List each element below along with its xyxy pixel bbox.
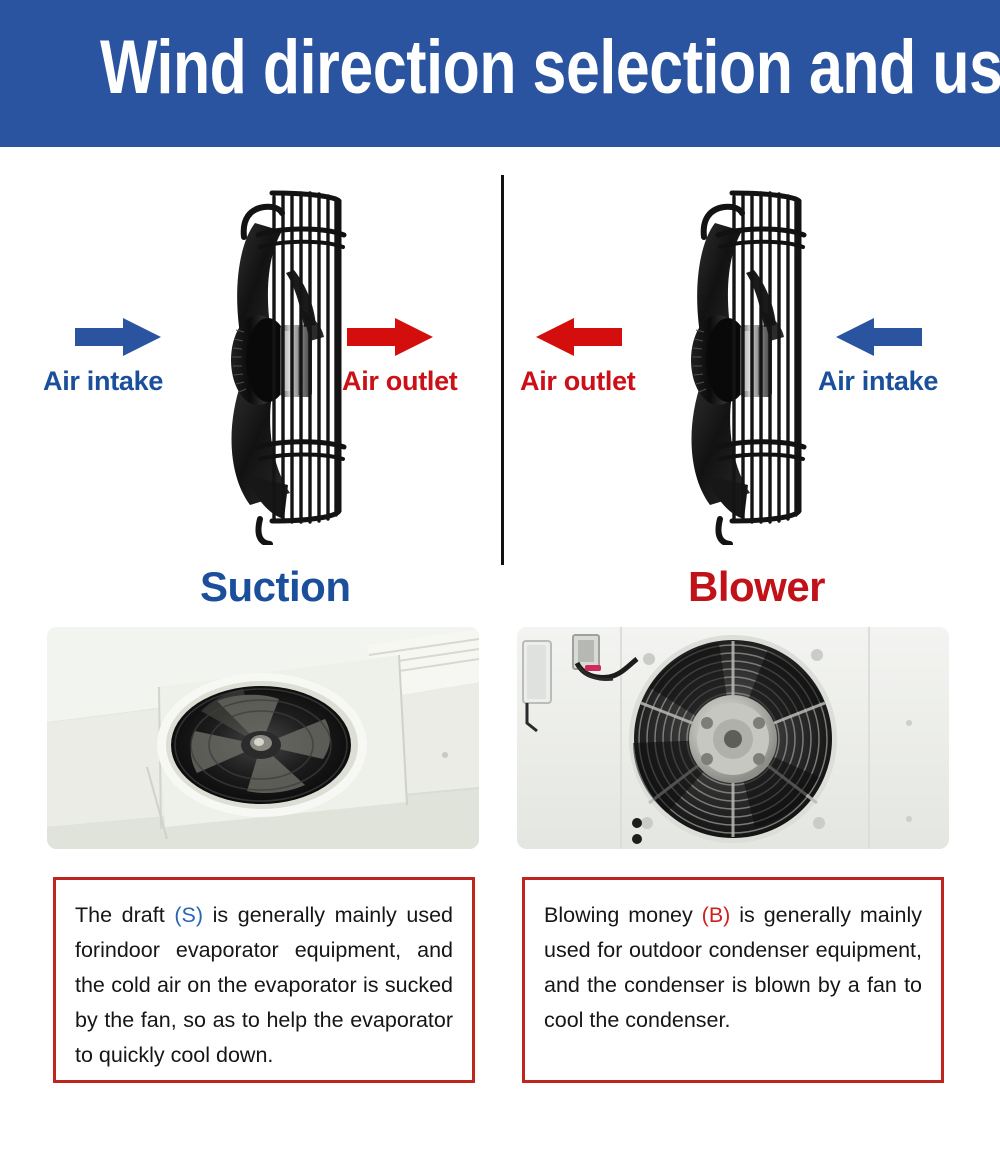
description-text-suction: The draft (S) is generally mainly used f… xyxy=(75,898,453,1073)
text-segment: Blowing money xyxy=(544,903,702,927)
fan-illustration-suction xyxy=(198,175,358,545)
arrow-left-blue-intake-right-panel xyxy=(836,317,922,357)
arrow-left-red-outlet-right-panel xyxy=(536,317,622,357)
photo-evaporator xyxy=(47,627,479,849)
panel-divider xyxy=(501,175,504,565)
arrow-right-blue-intake-left-panel xyxy=(75,317,161,357)
text-token-b: (B) xyxy=(702,903,731,927)
text-token-s: (S) xyxy=(174,903,203,927)
description-text-blower: Blowing money (B) is generally mainly us… xyxy=(544,898,922,1038)
description-card-suction: The draft (S) is generally mainly used f… xyxy=(53,877,475,1083)
label-air-intake-left: Air intake xyxy=(43,366,163,397)
mode-title-suction: Suction xyxy=(200,563,351,611)
fan-illustration-blower xyxy=(658,175,818,545)
arrow-right-red-outlet-left-panel xyxy=(347,317,433,357)
text-segment: The draft xyxy=(75,903,174,927)
label-air-intake-right: Air intake xyxy=(818,366,938,397)
page-title: Wind direction selection and use of fan xyxy=(100,22,900,114)
mode-title-blower: Blower xyxy=(688,563,825,611)
diagram-section: Air intake Air outlet Air outlet Air int… xyxy=(0,147,1000,625)
label-air-outlet-right: Air outlet xyxy=(520,366,636,397)
description-card-blower: Blowing money (B) is generally mainly us… xyxy=(522,877,944,1083)
label-air-outlet-left: Air outlet xyxy=(342,366,458,397)
header-banner: Wind direction selection and use of fan xyxy=(0,0,1000,147)
text-segment: is generally mainly used forindoor evapo… xyxy=(75,903,453,1067)
photo-condenser xyxy=(517,627,949,849)
